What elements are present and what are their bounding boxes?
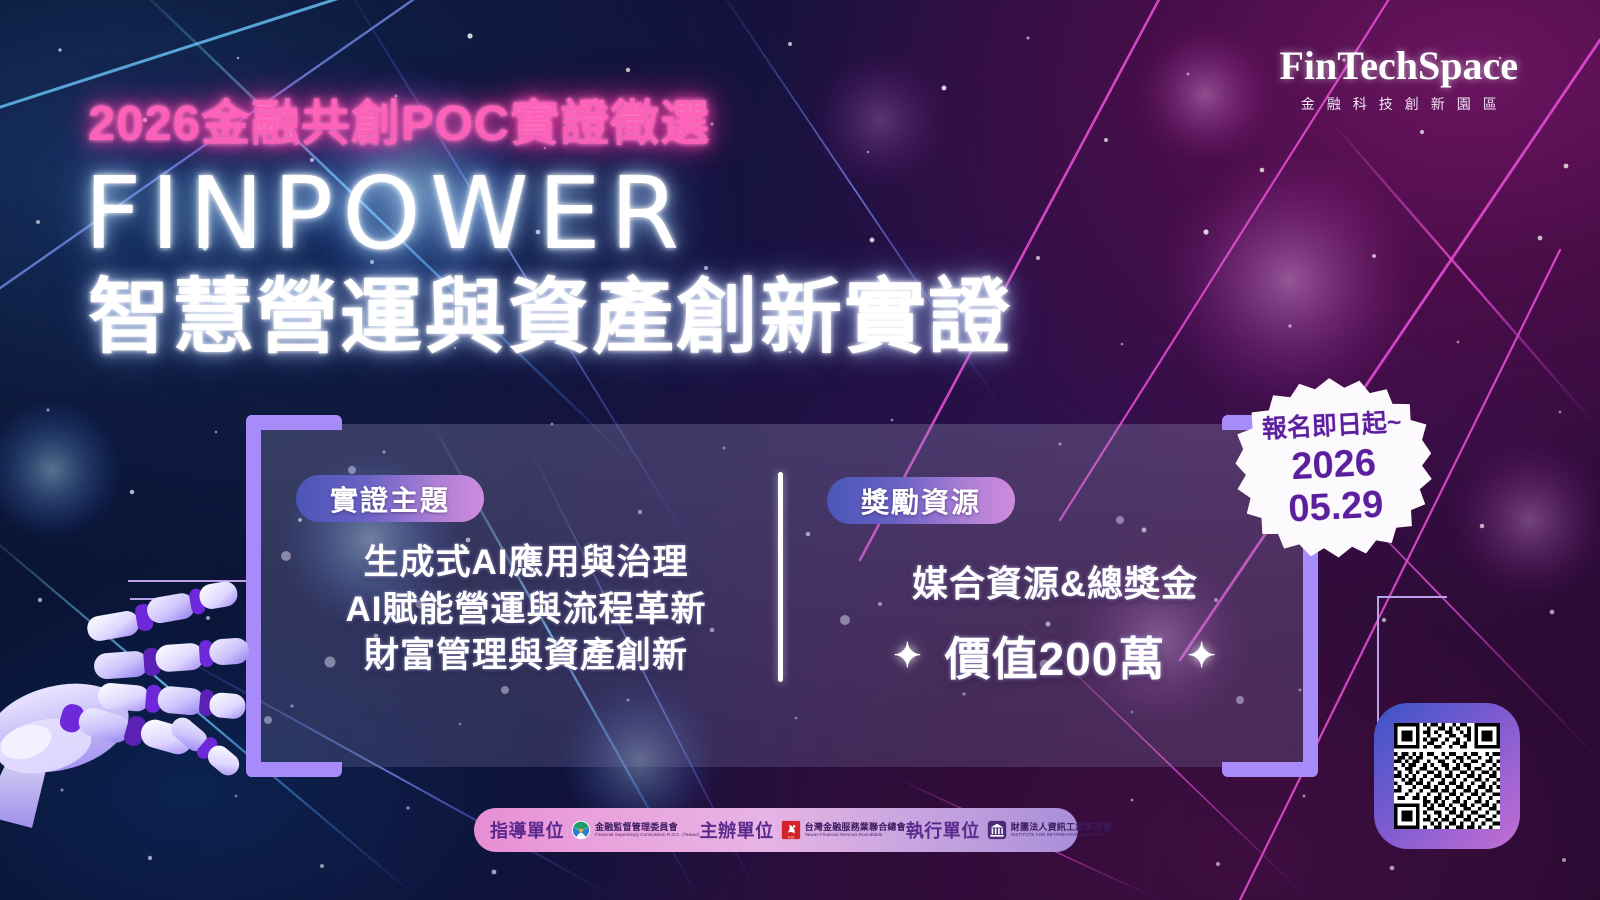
tfsr-emblem-icon: TFSR — [781, 820, 801, 840]
advisor-org-en: Financial Supervisory Commission R.O.C. … — [595, 833, 700, 837]
theme-list: 生成式AI應用與治理 AI賦能營運與流程革新 財富管理與資產創新 — [296, 540, 756, 680]
reward-amount: 價值200萬 — [945, 623, 1166, 689]
organizer-group-advisor: 指導單位 金融監督管理委員會 Financial Supervisory Com… — [490, 817, 700, 843]
organizer-group-executor: 執行單位 財團法人資訊工業策進會 INSTITUTE FOR IN — [906, 817, 1112, 843]
panel-divider — [778, 472, 783, 682]
executor-org-en: INSTITUTE FOR INFORMATION INDUSTRY — [1011, 833, 1112, 837]
executor-org-cn: 財團法人資訊工業策進會 — [1011, 823, 1112, 832]
qr-code-image — [1394, 723, 1500, 829]
theme-item-1: 生成式AI應用與治理 — [296, 540, 756, 587]
theme-item-3: 財富管理與資產創新 — [296, 633, 756, 680]
registration-qr-code[interactable] — [1374, 703, 1520, 849]
svg-text:TFSR: TFSR — [787, 836, 794, 839]
badge-year: 2026 — [1290, 442, 1377, 489]
executor-label: 執行單位 — [906, 817, 980, 843]
iii-emblem-icon — [987, 820, 1007, 840]
reward-amount-row: ✦ 價值200萬 ✦ — [840, 623, 1270, 689]
organizer-group-host: 主辦單位 TFSR 台灣金融服務業聯合總會 Taiwan Financial S… — [700, 817, 906, 843]
badge-open-text: 報名即日起~ — [1261, 410, 1402, 445]
host-org-cn: 台灣金融服務業聯合總會 — [805, 823, 906, 832]
reward-pill-label: 獎勵資源 — [827, 477, 1015, 524]
executor-org: 財團法人資訊工業策進會 INSTITUTE FOR INFORMATION IN… — [987, 820, 1112, 840]
brand-name: FinTechSpace — [1279, 42, 1518, 89]
executor-org-text: 財團法人資訊工業策進會 INSTITUTE FOR INFORMATION IN… — [1011, 823, 1112, 838]
advisor-org-text: 金融監督管理委員會 Financial Supervisory Commissi… — [595, 823, 700, 838]
robot-hand-illustration — [0, 560, 272, 860]
advisor-label: 指導單位 — [490, 817, 564, 843]
advisor-org-cn: 金融監督管理委員會 — [595, 823, 700, 832]
page-subtitle: 智慧營運與資產創新實證 — [88, 250, 1012, 369]
fsc-emblem-icon — [571, 820, 591, 840]
organizers-bar: 指導單位 金融監督管理委員會 Financial Supervisory Com… — [474, 808, 1078, 852]
host-org-en: Taiwan Financial Services Roundtable — [805, 833, 906, 837]
page-headline: 2026金融共創POC實證徵選 — [88, 84, 710, 155]
reward-block: 媒合資源&總獎金 ✦ 價值200萬 ✦ — [840, 555, 1270, 689]
host-org-text: 台灣金融服務業聯合總會 Taiwan Financial Services Ro… — [805, 823, 906, 838]
theme-pill-label: 實證主題 — [296, 475, 484, 522]
fintechspace-logo: FinTechSpace 金融科技創新園區 — [1279, 42, 1518, 114]
theme-item-2: AI賦能營運與流程革新 — [296, 587, 756, 634]
poster-canvas: 2026金融共創POC實證徵選 FINPOWER 智慧營運與資產創新實證 Fin… — [0, 0, 1600, 900]
host-org: TFSR 台灣金融服務業聯合總會 Taiwan Financial Servic… — [781, 820, 906, 840]
advisor-org: 金融監督管理委員會 Financial Supervisory Commissi… — [571, 820, 700, 840]
brand-subtitle: 金融科技創新園區 — [1279, 94, 1518, 114]
sparkle-right-icon: ✦ — [1187, 639, 1217, 673]
host-label: 主辦單位 — [700, 817, 774, 843]
sparkle-left-icon: ✦ — [893, 639, 923, 673]
badge-date: 05.29 — [1287, 484, 1384, 531]
reward-description: 媒合資源&總獎金 — [840, 555, 1270, 607]
